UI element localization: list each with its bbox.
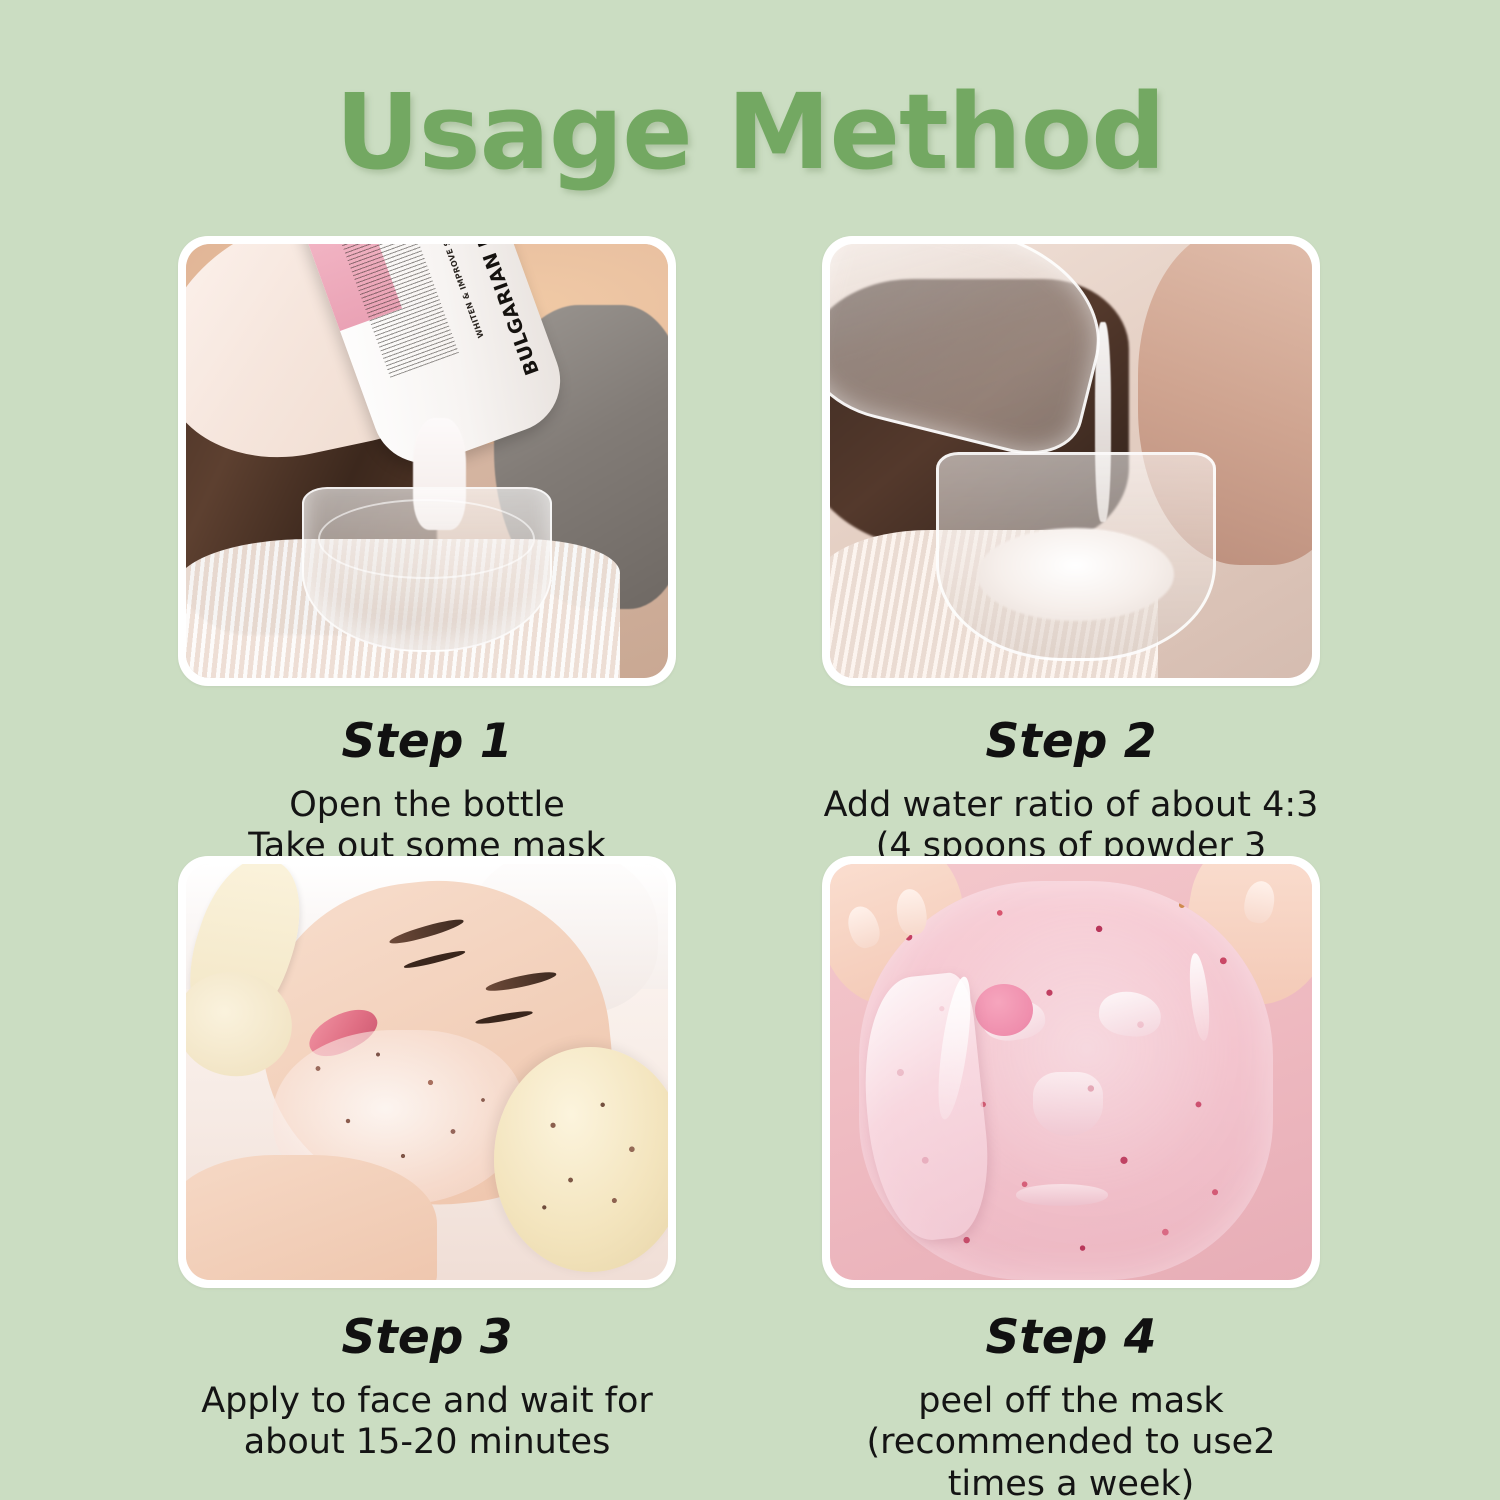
page-title-wrapper: Usage Method — [0, 78, 1500, 187]
glass-bowl-rim — [318, 499, 535, 579]
step-4-photo — [830, 864, 1312, 1280]
step-1-photo-frame: BULGARIAN ROSE WHITEN & IMPROVE SKIN — [178, 236, 676, 686]
mask-pink-highlight — [975, 984, 1033, 1036]
mask-mouth-hole — [1016, 1184, 1107, 1206]
step-card-1: BULGARIAN ROSE WHITEN & IMPROVE SKIN Ste… — [178, 236, 676, 856]
step-1-label: Step 1 — [178, 714, 676, 769]
step-card-4: Step 4 peel off the mask (recommended to… — [822, 856, 1320, 1476]
step-4-caption: Step 4 peel off the mask (recommended to… — [822, 1310, 1320, 1500]
mask-powder — [977, 528, 1174, 621]
step-2-label: Step 2 — [822, 714, 1320, 769]
step-3-label: Step 3 — [178, 1310, 676, 1365]
page-title: Usage Method — [335, 78, 1164, 187]
step-4-description: peel off the mask (recommended to use2 t… — [822, 1381, 1320, 1500]
glass-bowl — [936, 452, 1216, 660]
step-card-2: Step 2 Add water ratio of about 4:3 (4 s… — [822, 236, 1320, 856]
neck-shape — [186, 1155, 437, 1280]
step-3-description: Apply to face and wait for about 15-20 m… — [178, 1381, 676, 1464]
step-3-photo-frame — [178, 856, 676, 1288]
glass-bowl — [302, 487, 553, 652]
steps-grid: BULGARIAN ROSE WHITEN & IMPROVE SKIN Ste… — [178, 236, 1320, 1476]
step-2-photo — [830, 244, 1312, 678]
step-3-photo — [186, 864, 668, 1280]
step-card-3: Step 3 Apply to face and wait for about … — [178, 856, 676, 1476]
usage-method-infographic: Usage Method BULGARIAN ROSE WHITEN & IMP… — [0, 0, 1500, 1500]
step-4-photo-frame — [822, 856, 1320, 1288]
step-1-photo: BULGARIAN ROSE WHITEN & IMPROVE SKIN — [186, 244, 668, 678]
step-2-photo-frame — [822, 236, 1320, 686]
step-4-label: Step 4 — [822, 1310, 1320, 1365]
mixing-bowl — [494, 1047, 668, 1272]
step-3-caption: Step 3 Apply to face and wait for about … — [178, 1310, 676, 1464]
jelly-mask-sheet — [859, 881, 1274, 1280]
